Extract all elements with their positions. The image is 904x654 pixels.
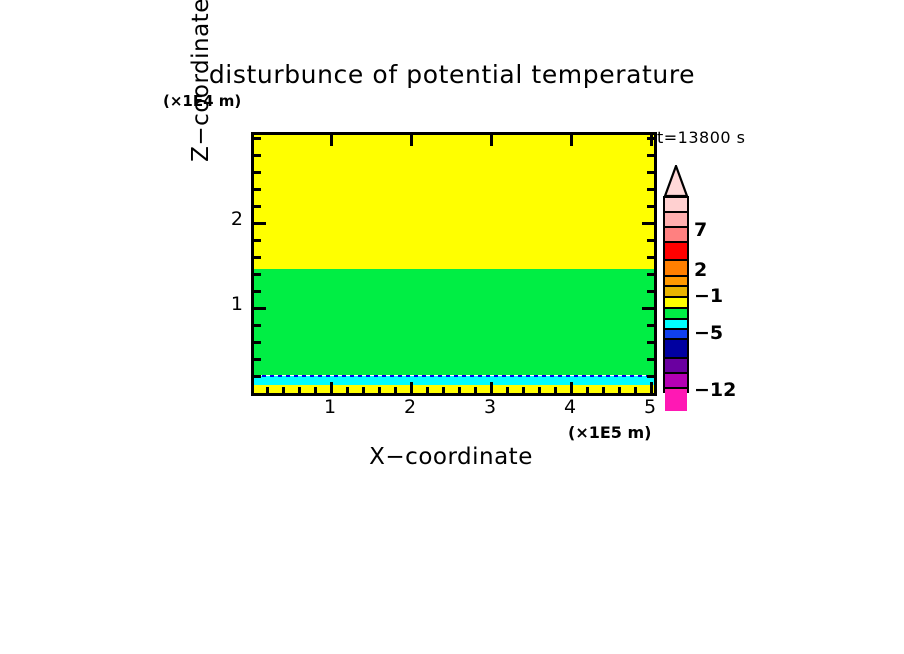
x-tick-minor [474, 387, 477, 393]
colorbar-arrow-icon [663, 165, 689, 197]
y-tick-label: 1 [215, 293, 243, 315]
x-tick-label: 4 [555, 396, 585, 418]
y-tick-label: 2 [215, 208, 243, 230]
x-tick-major [490, 382, 493, 393]
colorbar-band [665, 277, 687, 287]
colorbar-label: 2 [694, 259, 707, 281]
colorbar-band [665, 374, 687, 389]
colorbar-band [665, 320, 687, 330]
field-band-mid-green [254, 269, 654, 375]
y-tick-minor [254, 171, 261, 174]
x-tick-label: 3 [475, 396, 505, 418]
colorbar [663, 165, 689, 393]
y-tick-minor [254, 205, 261, 208]
x-tick-top-major [490, 135, 493, 146]
x-tick-label: 5 [635, 396, 665, 418]
y-tick-right-minor [647, 205, 654, 208]
x-tick-minor [618, 387, 621, 393]
y-tick-right-minor [647, 137, 654, 140]
colorbar-band [665, 309, 687, 320]
y-tick-right-minor [647, 188, 654, 191]
x-tick-minor [538, 387, 541, 393]
y-tick-minor [254, 239, 261, 242]
y-tick-right-major [642, 222, 654, 225]
colorbar-band [665, 243, 687, 261]
x-tick-top-major [330, 135, 333, 146]
y-tick-minor [254, 341, 261, 344]
y-tick-right-minor [647, 290, 654, 293]
y-tick-right-minor [647, 239, 654, 242]
field-band-upper-yellow [254, 135, 654, 269]
y-tick-minor [254, 137, 261, 140]
y-tick-right-minor [647, 341, 654, 344]
y-tick-right-minor [647, 375, 654, 378]
colorbar-band [665, 228, 687, 243]
page-title: disturbunce of potential temperature [0, 60, 904, 89]
y-tick-right-minor [647, 256, 654, 259]
y-tick-minor [254, 290, 261, 293]
x-tick-minor [282, 387, 285, 393]
x-tick-minor [634, 387, 637, 393]
x-tick-minor [298, 387, 301, 393]
x-tick-minor [506, 387, 509, 393]
colorbar-label: −5 [694, 322, 723, 344]
field-band-thin-cyan [254, 376, 654, 385]
colorbar-band [665, 287, 687, 298]
figure-canvas: disturbunce of potential temperature (×1… [0, 0, 904, 654]
y-tick-right-minor [647, 358, 654, 361]
colorbar-band [665, 330, 687, 340]
colorbar-band [665, 298, 687, 309]
y-tick-major [254, 307, 266, 310]
y-tick-right-minor [647, 273, 654, 276]
x-tick-major [570, 382, 573, 393]
x-tick-top-major [410, 135, 413, 146]
x-axis-title: X−coordinate [251, 444, 651, 470]
x-tick-label: 2 [395, 396, 425, 418]
y-tick-minor [254, 256, 261, 259]
x-tick-minor [442, 387, 445, 393]
x-tick-major [650, 382, 653, 393]
x-tick-top-major [570, 135, 573, 146]
x-tick-label: 1 [315, 396, 345, 418]
colorbar-label: −1 [694, 285, 723, 307]
y-tick-right-major [642, 307, 654, 310]
y-tick-right-minor [647, 154, 654, 157]
time-annotation: t=13800 s [657, 128, 746, 147]
colorbar-band [665, 198, 687, 213]
colorbar-band [665, 389, 687, 411]
colorbar-label: −12 [694, 379, 736, 401]
x-tick-minor [394, 387, 397, 393]
colorbar-bands [663, 196, 689, 393]
y-tick-minor [254, 324, 261, 327]
colorbar-band [665, 261, 687, 277]
y-tick-minor [254, 188, 261, 191]
x-tick-minor [362, 387, 365, 393]
colorbar-band [665, 213, 687, 228]
y-axis-title: Z−coordinate [188, 0, 214, 170]
x-tick-minor [602, 387, 605, 393]
colorbar-band [665, 340, 687, 359]
x-tick-minor [346, 387, 349, 393]
y-tick-major [254, 222, 266, 225]
x-tick-minor [458, 387, 461, 393]
y-tick-minor [254, 273, 261, 276]
x-tick-minor [522, 387, 525, 393]
x-tick-minor [378, 387, 381, 393]
x-tick-major [410, 382, 413, 393]
y-tick-right-minor [647, 324, 654, 327]
colorbar-label: 7 [694, 219, 707, 241]
y-tick-right-minor [647, 171, 654, 174]
x-axis-unit-label: (×1E5 m) [568, 423, 651, 442]
y-tick-minor [254, 375, 261, 378]
x-tick-minor [554, 387, 557, 393]
y-tick-minor [254, 358, 261, 361]
heatmap-plot-area [251, 132, 657, 396]
colorbar-band [665, 359, 687, 374]
x-tick-major [330, 382, 333, 393]
dotted-blue-contour-line [254, 375, 654, 377]
y-tick-minor [254, 154, 261, 157]
x-tick-minor [586, 387, 589, 393]
x-tick-minor [266, 387, 269, 393]
x-tick-minor [426, 387, 429, 393]
x-tick-minor [314, 387, 317, 393]
